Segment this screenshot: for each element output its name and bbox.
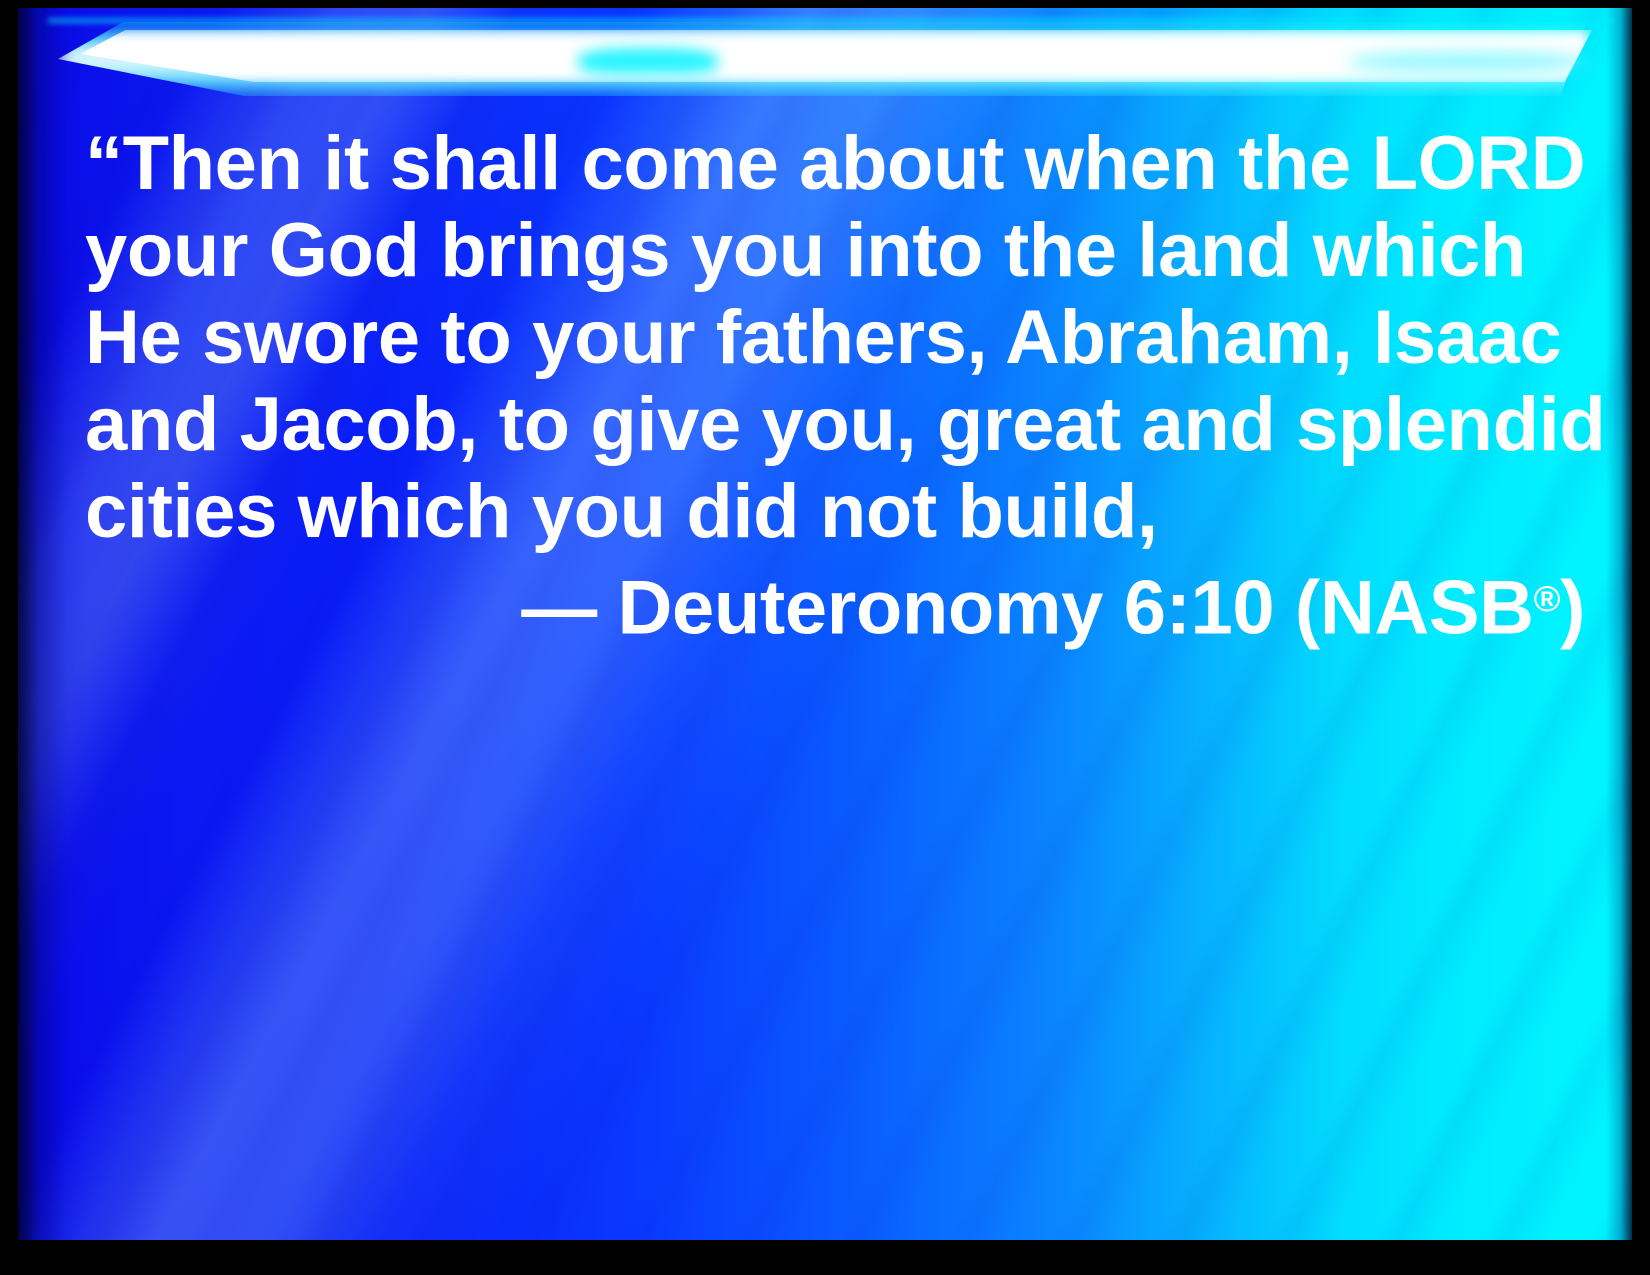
verse-line-4: and Jacob, to give you, great and splend… <box>85 381 1605 468</box>
registered-trademark-icon: ® <box>1534 578 1560 619</box>
verse-line-2: your God brings you into the land which <box>85 207 1605 294</box>
bottom-black-bar <box>0 1240 1650 1275</box>
top-glow-banner <box>18 8 1632 94</box>
top-banner-cyan-blob-left <box>578 48 718 74</box>
top-banner-cyan-glow <box>58 22 1610 96</box>
verse-text-block: “Then it shall come about when the LORD … <box>85 120 1605 652</box>
right-edge-vignette <box>1606 8 1632 1240</box>
slide-frame: “Then it shall come about when the LORD … <box>0 0 1650 1275</box>
verse-line-3: He swore to your fathers, Abraham, Isaac <box>85 294 1605 381</box>
verse-line-1: “Then it shall come about when the LORD <box>85 120 1605 207</box>
top-banner-cyan-blob-right <box>1348 52 1588 72</box>
verse-line-5: cities which you did not build, <box>85 468 1605 555</box>
top-banner-thin-cyan-line <box>48 17 1614 24</box>
left-edge-vignette <box>18 8 88 1240</box>
top-banner-white-core <box>80 30 1592 82</box>
citation-prefix: — Deuteronomy 6:10 (NASB <box>521 566 1533 651</box>
citation-suffix: ) <box>1560 566 1585 651</box>
verse-citation: — Deuteronomy 6:10 (NASB®) <box>85 555 1605 652</box>
slide-background-stage: “Then it shall come about when the LORD … <box>18 8 1632 1240</box>
